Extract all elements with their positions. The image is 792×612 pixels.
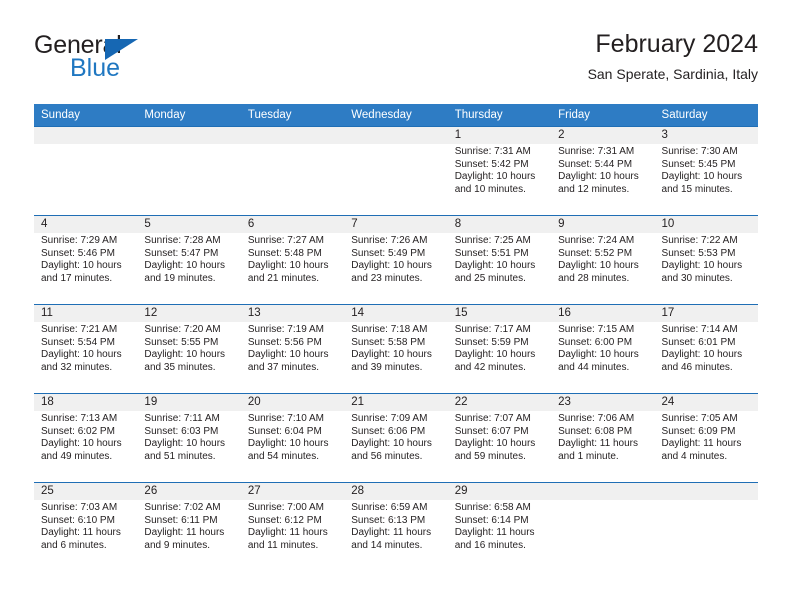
page-subtitle: San Sperate, Sardinia, Italy <box>588 63 758 85</box>
sun-info: Sunrise: 7:22 AMSunset: 5:53 PMDaylight:… <box>655 233 758 285</box>
day-number: 18 <box>34 394 137 411</box>
day-number: 1 <box>448 127 551 144</box>
daylight-text-line2: and 49 minutes. <box>41 451 131 464</box>
day-number: 20 <box>241 394 344 411</box>
day-cell-content: 21Sunrise: 7:09 AMSunset: 6:06 PMDayligh… <box>344 394 447 482</box>
weekday-header-thursday: Thursday <box>448 104 551 127</box>
daylight-text-line2: and 21 minutes. <box>248 273 338 286</box>
calendar-day-cell[interactable]: 7Sunrise: 7:26 AMSunset: 5:49 PMDaylight… <box>344 216 447 305</box>
sunrise-text: Sunrise: 7:21 AM <box>41 324 131 337</box>
calendar-empty-cell <box>34 127 137 216</box>
day-cell-content: 25Sunrise: 7:03 AMSunset: 6:10 PMDayligh… <box>34 483 137 571</box>
calendar-empty-cell <box>241 127 344 216</box>
daylight-text-line2: and 14 minutes. <box>351 540 441 553</box>
sunset-text: Sunset: 5:47 PM <box>144 248 234 261</box>
calendar-day-cell[interactable]: 10Sunrise: 7:22 AMSunset: 5:53 PMDayligh… <box>655 216 758 305</box>
calendar-day-cell[interactable]: 26Sunrise: 7:02 AMSunset: 6:11 PMDayligh… <box>137 483 240 572</box>
daylight-text-line2: and 16 minutes. <box>455 540 545 553</box>
daylight-text-line2: and 56 minutes. <box>351 451 441 464</box>
sunset-text: Sunset: 6:04 PM <box>248 426 338 439</box>
daylight-text-line1: Daylight: 10 hours <box>144 260 234 273</box>
sunset-text: Sunset: 5:56 PM <box>248 337 338 350</box>
daylight-text-line1: Daylight: 10 hours <box>455 260 545 273</box>
calendar-day-cell[interactable]: 20Sunrise: 7:10 AMSunset: 6:04 PMDayligh… <box>241 394 344 483</box>
daylight-text-line2: and 23 minutes. <box>351 273 441 286</box>
day-number: 5 <box>137 216 240 233</box>
day-number: 27 <box>241 483 344 500</box>
day-cell-content: 8Sunrise: 7:25 AMSunset: 5:51 PMDaylight… <box>448 216 551 304</box>
day-number: 23 <box>551 394 654 411</box>
sun-info: Sunrise: 7:28 AMSunset: 5:47 PMDaylight:… <box>137 233 240 285</box>
sunset-text: Sunset: 5:59 PM <box>455 337 545 350</box>
sun-info: Sunrise: 7:20 AMSunset: 5:55 PMDaylight:… <box>137 322 240 374</box>
sunset-text: Sunset: 5:42 PM <box>455 159 545 172</box>
calendar-day-cell[interactable]: 25Sunrise: 7:03 AMSunset: 6:10 PMDayligh… <box>34 483 137 572</box>
day-cell-content: 27Sunrise: 7:00 AMSunset: 6:12 PMDayligh… <box>241 483 344 571</box>
calendar-day-cell[interactable]: 5Sunrise: 7:28 AMSunset: 5:47 PMDaylight… <box>137 216 240 305</box>
day-cell-content: 2Sunrise: 7:31 AMSunset: 5:44 PMDaylight… <box>551 127 654 215</box>
sun-info: Sunrise: 6:58 AMSunset: 6:14 PMDaylight:… <box>448 500 551 552</box>
day-cell-content: 6Sunrise: 7:27 AMSunset: 5:48 PMDaylight… <box>241 216 344 304</box>
daylight-text-line1: Daylight: 11 hours <box>558 438 648 451</box>
calendar-day-cell[interactable]: 21Sunrise: 7:09 AMSunset: 6:06 PMDayligh… <box>344 394 447 483</box>
daylight-text-line2: and 42 minutes. <box>455 362 545 375</box>
day-cell-content: 14Sunrise: 7:18 AMSunset: 5:58 PMDayligh… <box>344 305 447 393</box>
day-cell-content: 23Sunrise: 7:06 AMSunset: 6:08 PMDayligh… <box>551 394 654 482</box>
daylight-text-line1: Daylight: 10 hours <box>455 349 545 362</box>
sunrise-text: Sunrise: 7:03 AM <box>41 502 131 515</box>
sun-info: Sunrise: 7:06 AMSunset: 6:08 PMDaylight:… <box>551 411 654 463</box>
day-cell-content: 28Sunrise: 6:59 AMSunset: 6:13 PMDayligh… <box>344 483 447 571</box>
day-cell-content: 12Sunrise: 7:20 AMSunset: 5:55 PMDayligh… <box>137 305 240 393</box>
daylight-text-line1: Daylight: 10 hours <box>351 349 441 362</box>
daylight-text-line2: and 51 minutes. <box>144 451 234 464</box>
daylight-text-line1: Daylight: 11 hours <box>144 527 234 540</box>
calendar-day-cell[interactable]: 9Sunrise: 7:24 AMSunset: 5:52 PMDaylight… <box>551 216 654 305</box>
day-number: 21 <box>344 394 447 411</box>
sun-info: Sunrise: 6:59 AMSunset: 6:13 PMDaylight:… <box>344 500 447 552</box>
daylight-text-line2: and 11 minutes. <box>248 540 338 553</box>
calendar-day-cell[interactable]: 14Sunrise: 7:18 AMSunset: 5:58 PMDayligh… <box>344 305 447 394</box>
calendar-week-row: 25Sunrise: 7:03 AMSunset: 6:10 PMDayligh… <box>34 483 758 572</box>
sunset-text: Sunset: 6:00 PM <box>558 337 648 350</box>
daylight-text-line2: and 17 minutes. <box>41 273 131 286</box>
day-number: 16 <box>551 305 654 322</box>
sun-info: Sunrise: 7:14 AMSunset: 6:01 PMDaylight:… <box>655 322 758 374</box>
daylight-text-line2: and 44 minutes. <box>558 362 648 375</box>
day-cell-content: 5Sunrise: 7:28 AMSunset: 5:47 PMDaylight… <box>137 216 240 304</box>
day-number: 29 <box>448 483 551 500</box>
sun-info: Sunrise: 7:17 AMSunset: 5:59 PMDaylight:… <box>448 322 551 374</box>
calendar-day-cell[interactable]: 22Sunrise: 7:07 AMSunset: 6:07 PMDayligh… <box>448 394 551 483</box>
day-number: 9 <box>551 216 654 233</box>
daylight-text-line1: Daylight: 10 hours <box>558 349 648 362</box>
logo-text-blue: Blue <box>70 56 214 80</box>
daylight-text-line2: and 12 minutes. <box>558 184 648 197</box>
sun-info: Sunrise: 7:31 AMSunset: 5:42 PMDaylight:… <box>448 144 551 196</box>
daylight-text-line2: and 19 minutes. <box>144 273 234 286</box>
sun-info: Sunrise: 7:15 AMSunset: 6:00 PMDaylight:… <box>551 322 654 374</box>
daylight-text-line2: and 6 minutes. <box>41 540 131 553</box>
sun-info: Sunrise: 7:31 AMSunset: 5:44 PMDaylight:… <box>551 144 654 196</box>
day-cell-content: 13Sunrise: 7:19 AMSunset: 5:56 PMDayligh… <box>241 305 344 393</box>
sunrise-text: Sunrise: 7:13 AM <box>41 413 131 426</box>
day-number: 6 <box>241 216 344 233</box>
daylight-text-line1: Daylight: 10 hours <box>248 438 338 451</box>
sun-info: Sunrise: 7:18 AMSunset: 5:58 PMDaylight:… <box>344 322 447 374</box>
day-cell-content: 19Sunrise: 7:11 AMSunset: 6:03 PMDayligh… <box>137 394 240 482</box>
day-number <box>344 127 447 144</box>
sunrise-text: Sunrise: 7:31 AM <box>455 146 545 159</box>
sunrise-text: Sunrise: 7:31 AM <box>558 146 648 159</box>
daylight-text-line2: and 35 minutes. <box>144 362 234 375</box>
day-number: 14 <box>344 305 447 322</box>
sunrise-text: Sunrise: 7:09 AM <box>351 413 441 426</box>
sunset-text: Sunset: 6:12 PM <box>248 515 338 528</box>
calendar-day-cell[interactable]: 19Sunrise: 7:11 AMSunset: 6:03 PMDayligh… <box>137 394 240 483</box>
sunrise-text: Sunrise: 7:24 AM <box>558 235 648 248</box>
day-cell-content: 24Sunrise: 7:05 AMSunset: 6:09 PMDayligh… <box>655 394 758 482</box>
calendar-day-cell[interactable]: 15Sunrise: 7:17 AMSunset: 5:59 PMDayligh… <box>448 305 551 394</box>
day-number <box>655 483 758 500</box>
day-number: 12 <box>137 305 240 322</box>
daylight-text-line2: and 1 minute. <box>558 451 648 464</box>
sunrise-text: Sunrise: 7:22 AM <box>662 235 752 248</box>
day-cell-content: 20Sunrise: 7:10 AMSunset: 6:04 PMDayligh… <box>241 394 344 482</box>
daylight-text-line1: Daylight: 11 hours <box>662 438 752 451</box>
sunset-text: Sunset: 6:10 PM <box>41 515 131 528</box>
daylight-text-line1: Daylight: 10 hours <box>144 438 234 451</box>
day-number: 15 <box>448 305 551 322</box>
sun-info: Sunrise: 7:30 AMSunset: 5:45 PMDaylight:… <box>655 144 758 196</box>
daylight-text-line1: Daylight: 10 hours <box>351 438 441 451</box>
sunrise-text: Sunrise: 7:18 AM <box>351 324 441 337</box>
calendar-day-cell[interactable]: 23Sunrise: 7:06 AMSunset: 6:08 PMDayligh… <box>551 394 654 483</box>
sunrise-text: Sunrise: 7:14 AM <box>662 324 752 337</box>
sun-info: Sunrise: 7:26 AMSunset: 5:49 PMDaylight:… <box>344 233 447 285</box>
calendar-empty-cell <box>551 483 654 572</box>
day-number: 2 <box>551 127 654 144</box>
day-cell-content: 17Sunrise: 7:14 AMSunset: 6:01 PMDayligh… <box>655 305 758 393</box>
calendar-day-cell[interactable]: 6Sunrise: 7:27 AMSunset: 5:48 PMDaylight… <box>241 216 344 305</box>
sunrise-text: Sunrise: 6:58 AM <box>455 502 545 515</box>
calendar-day-cell[interactable]: 12Sunrise: 7:20 AMSunset: 5:55 PMDayligh… <box>137 305 240 394</box>
calendar-day-cell[interactable]: 17Sunrise: 7:14 AMSunset: 6:01 PMDayligh… <box>655 305 758 394</box>
day-cell-content <box>551 483 654 571</box>
sunset-text: Sunset: 6:13 PM <box>351 515 441 528</box>
daylight-text-line2: and 32 minutes. <box>41 362 131 375</box>
calendar-week-row: 4Sunrise: 7:29 AMSunset: 5:46 PMDaylight… <box>34 216 758 305</box>
sunset-text: Sunset: 5:45 PM <box>662 159 752 172</box>
day-number: 4 <box>34 216 137 233</box>
day-cell-content: 3Sunrise: 7:30 AMSunset: 5:45 PMDaylight… <box>655 127 758 215</box>
day-cell-content: 10Sunrise: 7:22 AMSunset: 5:53 PMDayligh… <box>655 216 758 304</box>
sun-info: Sunrise: 7:10 AMSunset: 6:04 PMDaylight:… <box>241 411 344 463</box>
calendar-empty-cell <box>655 483 758 572</box>
day-number: 22 <box>448 394 551 411</box>
weekday-header-wednesday: Wednesday <box>344 104 447 127</box>
daylight-text-line2: and 15 minutes. <box>662 184 752 197</box>
sunset-text: Sunset: 6:02 PM <box>41 426 131 439</box>
weekday-header-monday: Monday <box>137 104 240 127</box>
day-cell-content: 11Sunrise: 7:21 AMSunset: 5:54 PMDayligh… <box>34 305 137 393</box>
page-header: General Blue February 2024 San Sperate, … <box>34 28 758 94</box>
daylight-text-line2: and 54 minutes. <box>248 451 338 464</box>
day-cell-content: 29Sunrise: 6:58 AMSunset: 6:14 PMDayligh… <box>448 483 551 571</box>
weekday-header-friday: Friday <box>551 104 654 127</box>
calendar-week-row: 18Sunrise: 7:13 AMSunset: 6:02 PMDayligh… <box>34 394 758 483</box>
day-number <box>551 483 654 500</box>
day-number: 7 <box>344 216 447 233</box>
triangle-icon <box>105 39 138 60</box>
daylight-text-line1: Daylight: 11 hours <box>41 527 131 540</box>
sun-info: Sunrise: 7:09 AMSunset: 6:06 PMDaylight:… <box>344 411 447 463</box>
sunset-text: Sunset: 6:03 PM <box>144 426 234 439</box>
sun-info: Sunrise: 7:21 AMSunset: 5:54 PMDaylight:… <box>34 322 137 374</box>
weekday-header-saturday: Saturday <box>655 104 758 127</box>
daylight-text-line2: and 10 minutes. <box>455 184 545 197</box>
calendar-day-cell[interactable]: 16Sunrise: 7:15 AMSunset: 6:00 PMDayligh… <box>551 305 654 394</box>
day-cell-content <box>34 127 137 215</box>
day-cell-content: 22Sunrise: 7:07 AMSunset: 6:07 PMDayligh… <box>448 394 551 482</box>
day-cell-content: 1Sunrise: 7:31 AMSunset: 5:42 PMDaylight… <box>448 127 551 215</box>
sunset-text: Sunset: 5:51 PM <box>455 248 545 261</box>
sunrise-text: Sunrise: 7:00 AM <box>248 502 338 515</box>
sunset-text: Sunset: 6:08 PM <box>558 426 648 439</box>
daylight-text-line2: and 4 minutes. <box>662 451 752 464</box>
daylight-text-line2: and 9 minutes. <box>144 540 234 553</box>
calendar-page: General Blue February 2024 San Sperate, … <box>0 0 792 612</box>
sun-info: Sunrise: 7:29 AMSunset: 5:46 PMDaylight:… <box>34 233 137 285</box>
daylight-text-line1: Daylight: 10 hours <box>248 260 338 273</box>
day-cell-content <box>655 483 758 571</box>
daylight-text-line1: Daylight: 10 hours <box>662 349 752 362</box>
sunset-text: Sunset: 5:52 PM <box>558 248 648 261</box>
daylight-text-line1: Daylight: 10 hours <box>351 260 441 273</box>
daylight-text-line1: Daylight: 10 hours <box>248 349 338 362</box>
sunrise-text: Sunrise: 7:20 AM <box>144 324 234 337</box>
day-number: 28 <box>344 483 447 500</box>
sunset-text: Sunset: 6:14 PM <box>455 515 545 528</box>
sunset-text: Sunset: 5:55 PM <box>144 337 234 350</box>
sunset-text: Sunset: 5:46 PM <box>41 248 131 261</box>
sunrise-text: Sunrise: 7:29 AM <box>41 235 131 248</box>
sun-info: Sunrise: 7:05 AMSunset: 6:09 PMDaylight:… <box>655 411 758 463</box>
sunrise-text: Sunrise: 7:26 AM <box>351 235 441 248</box>
general-blue-logo[interactable]: General Blue <box>34 32 214 88</box>
calendar-table: Sunday Monday Tuesday Wednesday Thursday… <box>34 104 758 571</box>
day-cell-content: 18Sunrise: 7:13 AMSunset: 6:02 PMDayligh… <box>34 394 137 482</box>
day-number: 10 <box>655 216 758 233</box>
sunrise-text: Sunrise: 7:10 AM <box>248 413 338 426</box>
page-title: February 2024 <box>588 28 758 60</box>
calendar-day-cell[interactable]: 1Sunrise: 7:31 AMSunset: 5:42 PMDaylight… <box>448 127 551 216</box>
calendar-day-cell[interactable]: 13Sunrise: 7:19 AMSunset: 5:56 PMDayligh… <box>241 305 344 394</box>
calendar-body: 1Sunrise: 7:31 AMSunset: 5:42 PMDaylight… <box>34 127 758 572</box>
day-cell-content: 15Sunrise: 7:17 AMSunset: 5:59 PMDayligh… <box>448 305 551 393</box>
daylight-text-line1: Daylight: 11 hours <box>455 527 545 540</box>
daylight-text-line1: Daylight: 10 hours <box>41 260 131 273</box>
sunset-text: Sunset: 6:09 PM <box>662 426 752 439</box>
sunrise-text: Sunrise: 7:02 AM <box>144 502 234 515</box>
weekday-header-sunday: Sunday <box>34 104 137 127</box>
calendar-empty-cell <box>344 127 447 216</box>
daylight-text-line2: and 37 minutes. <box>248 362 338 375</box>
sunrise-text: Sunrise: 7:07 AM <box>455 413 545 426</box>
sunrise-text: Sunrise: 7:28 AM <box>144 235 234 248</box>
calendar-week-row: 11Sunrise: 7:21 AMSunset: 5:54 PMDayligh… <box>34 305 758 394</box>
sunrise-text: Sunrise: 7:06 AM <box>558 413 648 426</box>
day-number: 8 <box>448 216 551 233</box>
sunset-text: Sunset: 5:53 PM <box>662 248 752 261</box>
sunrise-text: Sunrise: 7:17 AM <box>455 324 545 337</box>
daylight-text-line1: Daylight: 10 hours <box>662 260 752 273</box>
calendar-day-cell[interactable]: 27Sunrise: 7:00 AMSunset: 6:12 PMDayligh… <box>241 483 344 572</box>
title-block: February 2024 San Sperate, Sardinia, Ita… <box>588 28 758 85</box>
calendar-day-cell[interactable]: 2Sunrise: 7:31 AMSunset: 5:44 PMDaylight… <box>551 127 654 216</box>
sunset-text: Sunset: 5:48 PM <box>248 248 338 261</box>
sunset-text: Sunset: 6:07 PM <box>455 426 545 439</box>
daylight-text-line2: and 30 minutes. <box>662 273 752 286</box>
sunset-text: Sunset: 5:44 PM <box>558 159 648 172</box>
calendar-day-cell[interactable]: 29Sunrise: 6:58 AMSunset: 6:14 PMDayligh… <box>448 483 551 572</box>
daylight-text-line1: Daylight: 10 hours <box>455 171 545 184</box>
sunrise-text: Sunrise: 7:30 AM <box>662 146 752 159</box>
day-number: 3 <box>655 127 758 144</box>
sun-info: Sunrise: 7:27 AMSunset: 5:48 PMDaylight:… <box>241 233 344 285</box>
calendar-day-cell[interactable]: 18Sunrise: 7:13 AMSunset: 6:02 PMDayligh… <box>34 394 137 483</box>
daylight-text-line2: and 46 minutes. <box>662 362 752 375</box>
daylight-text-line2: and 28 minutes. <box>558 273 648 286</box>
sunset-text: Sunset: 6:06 PM <box>351 426 441 439</box>
daylight-text-line1: Daylight: 10 hours <box>662 171 752 184</box>
calendar-empty-cell <box>137 127 240 216</box>
day-number: 11 <box>34 305 137 322</box>
sunrise-text: Sunrise: 7:05 AM <box>662 413 752 426</box>
sun-info: Sunrise: 7:19 AMSunset: 5:56 PMDaylight:… <box>241 322 344 374</box>
sunrise-text: Sunrise: 7:11 AM <box>144 413 234 426</box>
sun-info: Sunrise: 7:13 AMSunset: 6:02 PMDaylight:… <box>34 411 137 463</box>
daylight-text-line2: and 39 minutes. <box>351 362 441 375</box>
day-cell-content <box>344 127 447 215</box>
day-number <box>241 127 344 144</box>
day-cell-content <box>137 127 240 215</box>
day-number: 17 <box>655 305 758 322</box>
sunset-text: Sunset: 6:11 PM <box>144 515 234 528</box>
sunset-text: Sunset: 5:54 PM <box>41 337 131 350</box>
sunrise-text: Sunrise: 7:19 AM <box>248 324 338 337</box>
sunrise-text: Sunrise: 7:15 AM <box>558 324 648 337</box>
day-number: 26 <box>137 483 240 500</box>
day-number: 13 <box>241 305 344 322</box>
day-number <box>34 127 137 144</box>
sunset-text: Sunset: 5:58 PM <box>351 337 441 350</box>
daylight-text-line1: Daylight: 10 hours <box>558 171 648 184</box>
sunset-text: Sunset: 5:49 PM <box>351 248 441 261</box>
daylight-text-line1: Daylight: 10 hours <box>558 260 648 273</box>
day-number <box>137 127 240 144</box>
calendar-day-cell[interactable]: 28Sunrise: 6:59 AMSunset: 6:13 PMDayligh… <box>344 483 447 572</box>
day-cell-content: 9Sunrise: 7:24 AMSunset: 5:52 PMDaylight… <box>551 216 654 304</box>
day-cell-content: 4Sunrise: 7:29 AMSunset: 5:46 PMDaylight… <box>34 216 137 304</box>
calendar-day-cell[interactable]: 3Sunrise: 7:30 AMSunset: 5:45 PMDaylight… <box>655 127 758 216</box>
daylight-text-line1: Daylight: 10 hours <box>41 349 131 362</box>
sun-info: Sunrise: 7:07 AMSunset: 6:07 PMDaylight:… <box>448 411 551 463</box>
day-cell-content: 16Sunrise: 7:15 AMSunset: 6:00 PMDayligh… <box>551 305 654 393</box>
day-cell-content: 26Sunrise: 7:02 AMSunset: 6:11 PMDayligh… <box>137 483 240 571</box>
calendar-week-row: 1Sunrise: 7:31 AMSunset: 5:42 PMDaylight… <box>34 127 758 216</box>
calendar-header-row: Sunday Monday Tuesday Wednesday Thursday… <box>34 104 758 127</box>
calendar-day-cell[interactable]: 4Sunrise: 7:29 AMSunset: 5:46 PMDaylight… <box>34 216 137 305</box>
daylight-text-line2: and 59 minutes. <box>455 451 545 464</box>
sun-info: Sunrise: 7:03 AMSunset: 6:10 PMDaylight:… <box>34 500 137 552</box>
day-cell-content: 7Sunrise: 7:26 AMSunset: 5:49 PMDaylight… <box>344 216 447 304</box>
calendar-day-cell[interactable]: 8Sunrise: 7:25 AMSunset: 5:51 PMDaylight… <box>448 216 551 305</box>
sun-info: Sunrise: 7:11 AMSunset: 6:03 PMDaylight:… <box>137 411 240 463</box>
sunrise-text: Sunrise: 7:25 AM <box>455 235 545 248</box>
sun-info: Sunrise: 7:00 AMSunset: 6:12 PMDaylight:… <box>241 500 344 552</box>
weekday-header-tuesday: Tuesday <box>241 104 344 127</box>
daylight-text-line1: Daylight: 10 hours <box>144 349 234 362</box>
sun-info: Sunrise: 7:02 AMSunset: 6:11 PMDaylight:… <box>137 500 240 552</box>
day-cell-content <box>241 127 344 215</box>
day-number: 24 <box>655 394 758 411</box>
calendar-day-cell[interactable]: 24Sunrise: 7:05 AMSunset: 6:09 PMDayligh… <box>655 394 758 483</box>
daylight-text-line1: Daylight: 11 hours <box>248 527 338 540</box>
sun-info: Sunrise: 7:24 AMSunset: 5:52 PMDaylight:… <box>551 233 654 285</box>
sunset-text: Sunset: 6:01 PM <box>662 337 752 350</box>
daylight-text-line2: and 25 minutes. <box>455 273 545 286</box>
day-number: 25 <box>34 483 137 500</box>
daylight-text-line1: Daylight: 11 hours <box>351 527 441 540</box>
sunrise-text: Sunrise: 7:27 AM <box>248 235 338 248</box>
calendar-day-cell[interactable]: 11Sunrise: 7:21 AMSunset: 5:54 PMDayligh… <box>34 305 137 394</box>
daylight-text-line1: Daylight: 10 hours <box>41 438 131 451</box>
day-number: 19 <box>137 394 240 411</box>
daylight-text-line1: Daylight: 10 hours <box>455 438 545 451</box>
sun-info: Sunrise: 7:25 AMSunset: 5:51 PMDaylight:… <box>448 233 551 285</box>
sunrise-text: Sunrise: 6:59 AM <box>351 502 441 515</box>
